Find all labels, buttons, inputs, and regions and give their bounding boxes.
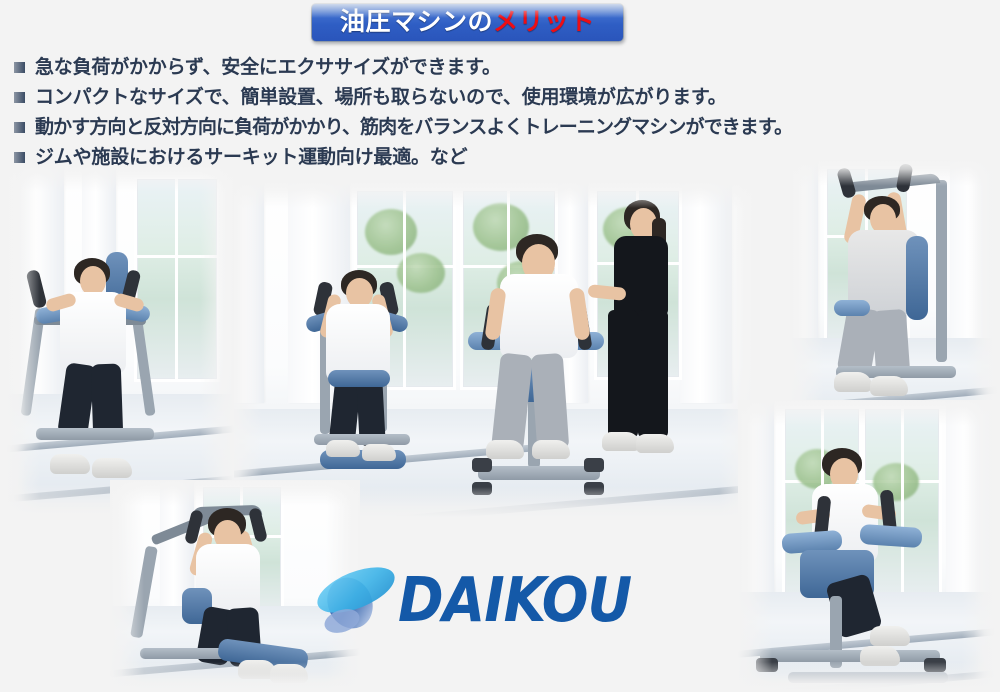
- section-title-text: 油圧マシンのメリット: [340, 10, 595, 35]
- list-item: 動かす方向と反対方向に負荷がかかり、筋肉をバランスよくトレーニングマシンができま…: [14, 115, 986, 141]
- photo-bottom-right-abdominal: [738, 400, 996, 692]
- photo-center-shoulder-press: [228, 182, 753, 517]
- square-bullet-icon: [14, 122, 25, 133]
- photo-right-lat-pulldown: [790, 160, 1000, 432]
- list-item: 急な負荷がかからず、安全にエクササイズができます。: [14, 55, 986, 81]
- section-title-main: 油圧マシンの: [340, 8, 493, 36]
- promo-page: 油圧マシンのメリット 急な負荷がかからず、安全にエクササイズができます。 コンパ…: [0, 0, 1000, 692]
- brand-wordmark: DAIKOU: [398, 569, 631, 631]
- brand-logo: DAIKOU: [306, 550, 654, 650]
- benefits-list: 急な負荷がかからず、安全にエクササイズができます。 コンパクトなサイズで、簡単設…: [14, 55, 986, 175]
- benefit-text: 動かす方向と反対方向に負荷がかかり、筋肉をバランスよくトレーニングマシンができま…: [35, 115, 792, 140]
- section-title-banner: 油圧マシンのメリット: [311, 3, 624, 42]
- photo-left-chest-press: [6, 166, 234, 514]
- benefit-text: コンパクトなサイズで、簡単設置、場所も取らないので、使用環境が広がります。: [35, 85, 727, 110]
- list-item: コンパクトなサイズで、簡単設置、場所も取らないので、使用環境が広がります。: [14, 85, 986, 111]
- benefit-text: 急な負荷がかからず、安全にエクササイズができます。: [35, 55, 501, 80]
- section-title-accent: メリット: [493, 8, 595, 36]
- daikou-mark-icon: [306, 557, 402, 643]
- square-bullet-icon: [14, 92, 25, 103]
- square-bullet-icon: [14, 62, 25, 73]
